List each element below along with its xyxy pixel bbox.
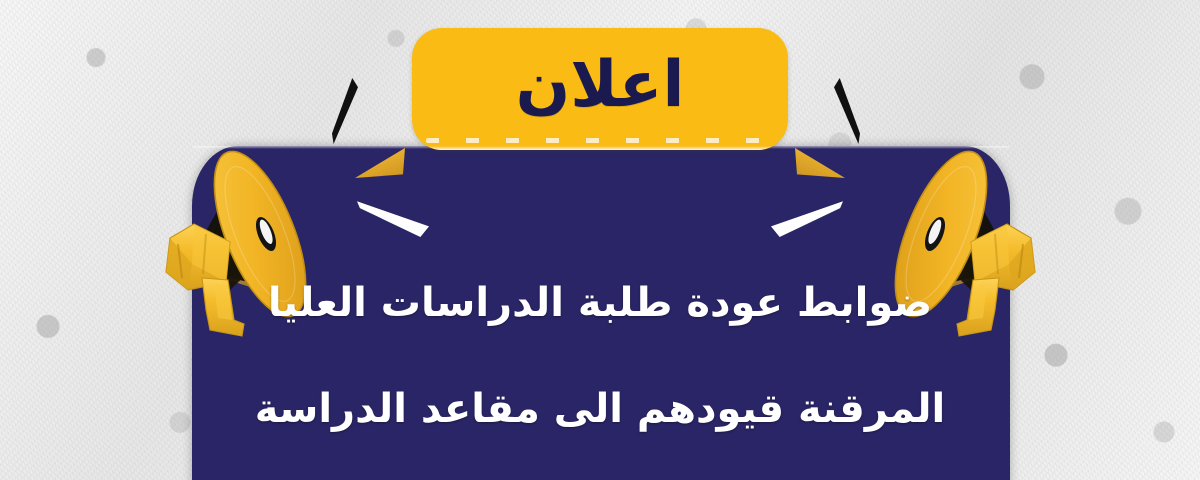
announcement-banner: اعلان — [412, 28, 788, 150]
announcement-poster: اعلان — [0, 0, 1200, 480]
announcement-banner-label: اعلان — [412, 28, 788, 150]
banner-bottom-highlight — [412, 146, 788, 150]
headline-text: ضوابط عودة طلبة الدراسات العليا المرقنة … — [210, 282, 990, 430]
headline-line-1: ضوابط عودة طلبة الدراسات العليا — [210, 282, 990, 324]
headline-line-2: المرقنة قيودهم الى مقاعد الدراسة — [210, 388, 990, 430]
banner-perforation — [426, 138, 774, 143]
